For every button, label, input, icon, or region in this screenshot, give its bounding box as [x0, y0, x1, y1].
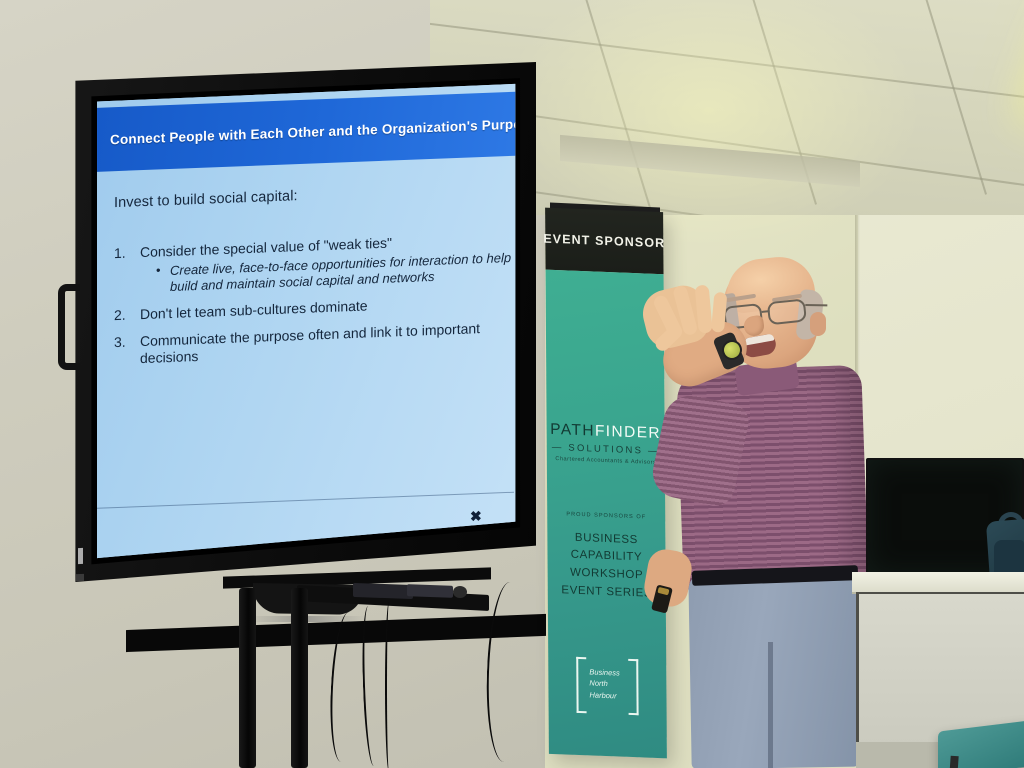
- slide-point-text: Don't let team sub-cultures dominate: [140, 297, 368, 322]
- desk-top: [852, 572, 1024, 594]
- glasses-lens: [767, 298, 807, 325]
- glasses-temple: [805, 304, 827, 306]
- cart-post: [239, 588, 256, 768]
- slide-point-list: Consider the special value of "weak ties…: [114, 230, 512, 368]
- av-device: [353, 583, 413, 599]
- ceiling-grid-line: [581, 0, 653, 215]
- cable: [385, 602, 393, 768]
- banner-header-text: EVENT SPONSOR: [543, 232, 665, 251]
- bnh-line3: Harbour: [589, 689, 629, 702]
- bracket-left-icon: [576, 657, 586, 713]
- display-cart: [235, 572, 505, 768]
- slide-point: Communicate the purpose often and link i…: [114, 319, 512, 368]
- av-device-secondary: [407, 584, 453, 598]
- room-scene: Connect People with Each Other and the O…: [0, 0, 1024, 768]
- presenter: [640, 250, 890, 768]
- cart-knob: [453, 586, 467, 598]
- bnh-text: Business North Harbour: [589, 666, 629, 702]
- sponsor-pre-text: PROUD SPONSORS OF: [561, 511, 652, 520]
- ceiling-grid-line: [915, 0, 987, 195]
- cable: [360, 606, 382, 766]
- slide-point: Consider the special value of "weak ties…: [114, 230, 512, 297]
- sponsor-block: PROUD SPONSORS OF BUSINESS CAPABILITY WO…: [561, 511, 652, 604]
- slide-title: Connect People with Each Other and the O…: [66, 115, 536, 148]
- cable: [327, 611, 363, 762]
- slide-body: Invest to build social capital: Consider…: [66, 157, 536, 505]
- trouser-seam: [768, 642, 773, 768]
- display-status-led: [78, 548, 83, 564]
- slide-point: Don't let team sub-cultures dominate: [114, 292, 512, 324]
- presenter-trousers: [688, 571, 859, 768]
- pathfinder-name-part1: PATH: [550, 421, 595, 440]
- display-screen[interactable]: Connect People with Each Other and the O…: [66, 62, 536, 582]
- cart-post: [291, 588, 308, 768]
- presentation-slide: Connect People with Each Other and the O…: [66, 62, 536, 582]
- bracket-right-icon: [628, 659, 638, 715]
- interactive-display[interactable]: Connect People with Each Other and the O…: [66, 62, 536, 582]
- business-north-harbour-logo: Business North Harbour: [576, 657, 638, 715]
- sponsor-line: EVENT SERIES: [561, 582, 652, 603]
- display-sensor-icon: [76, 574, 84, 581]
- slide-lead-in: Invest to build social capital:: [114, 180, 512, 211]
- chair-leg: [949, 756, 958, 768]
- display-side-handle[interactable]: [58, 284, 80, 370]
- close-icon[interactable]: ✖: [470, 508, 482, 525]
- slide-point-text: Communicate the purpose often and link i…: [140, 320, 480, 366]
- finger: [695, 285, 713, 334]
